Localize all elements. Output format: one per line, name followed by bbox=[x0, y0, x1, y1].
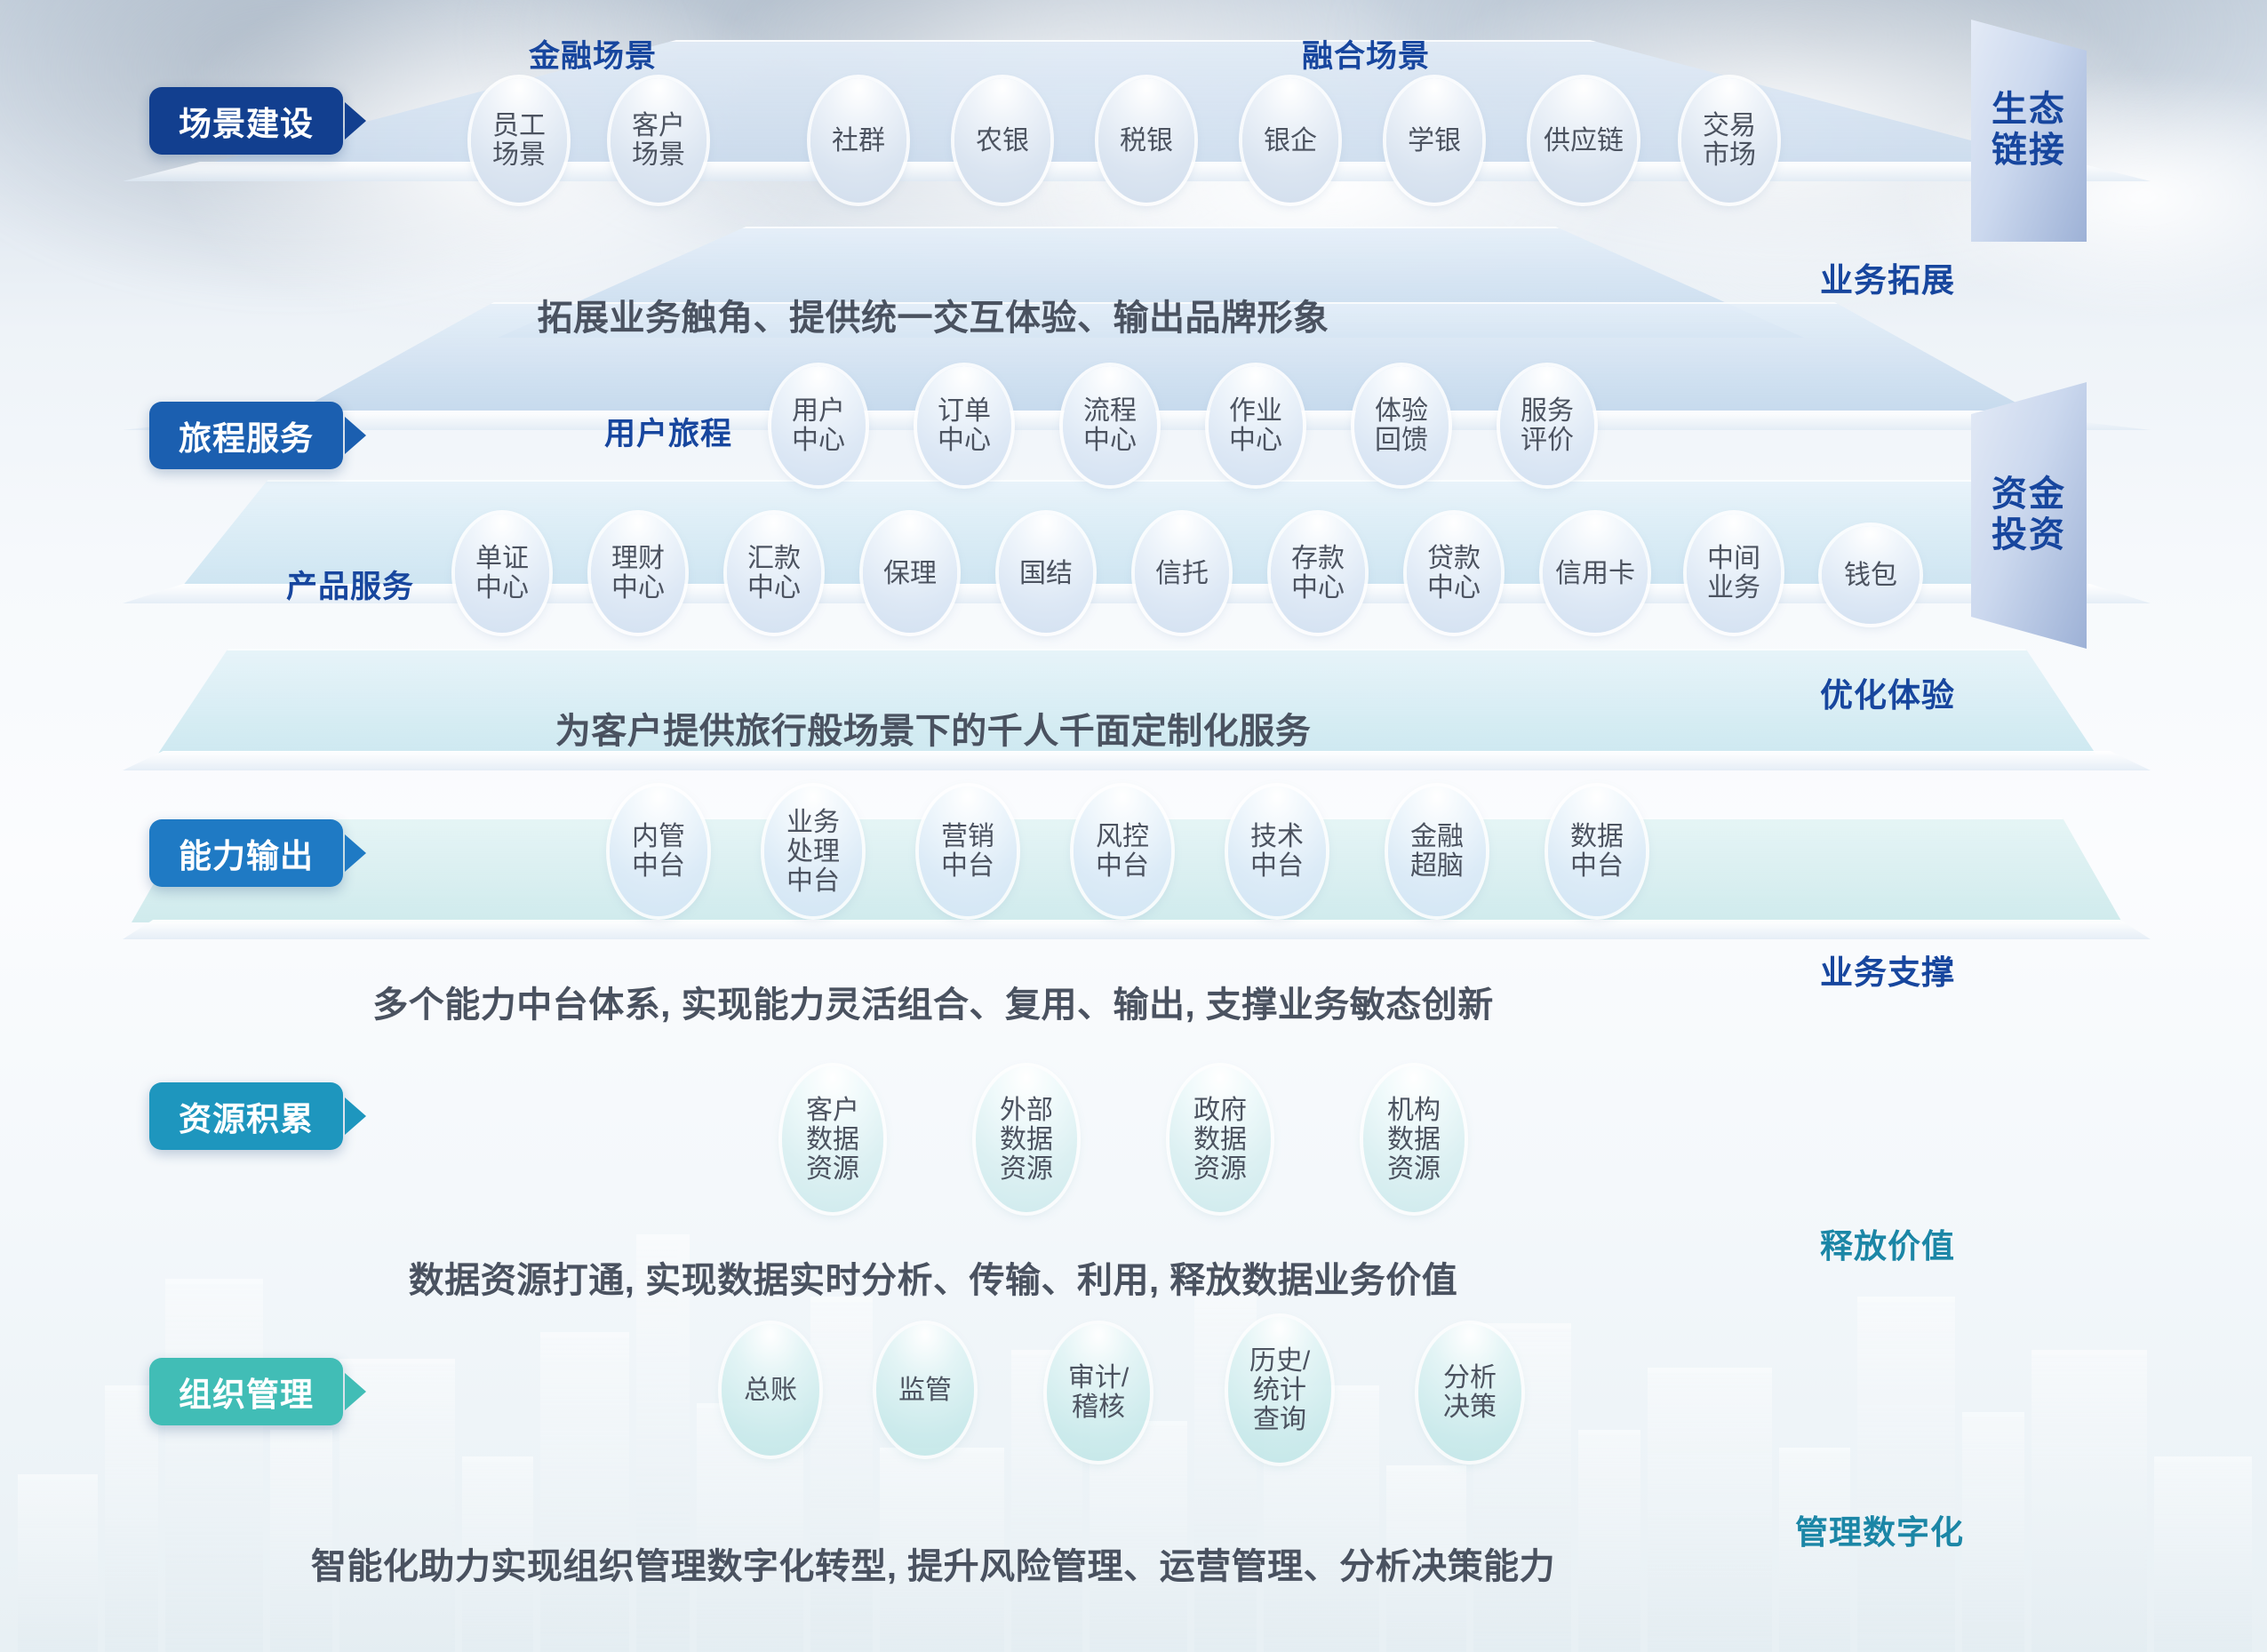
node-line: 银企 bbox=[1264, 126, 1317, 156]
node-line: 中心 bbox=[792, 426, 845, 455]
stage-label: 资源积累 bbox=[179, 1092, 314, 1140]
stage-label: 能力输出 bbox=[179, 829, 314, 877]
banner-ecosystem-link: 生态 链接 bbox=[1971, 20, 2087, 242]
stage-pill-scene-building[interactable]: 场景建设 bbox=[149, 87, 343, 155]
node-document-center[interactable]: 单证 中心 bbox=[455, 514, 549, 633]
node-line: 理财 bbox=[611, 544, 665, 573]
node-line: 国结 bbox=[1019, 559, 1073, 588]
pill-nib-icon bbox=[345, 417, 366, 454]
node-line: 分析 bbox=[1443, 1363, 1497, 1393]
group-label-fusion-scene: 融合场景 bbox=[1302, 31, 1430, 76]
node-operation-center[interactable]: 作业 中心 bbox=[1209, 366, 1303, 485]
node-line: 处理 bbox=[786, 837, 840, 866]
tier-description-2: 为客户提供旅行般场景下的千人千面定制化服务 bbox=[0, 702, 1866, 754]
node-loan-center[interactable]: 贷款 中心 bbox=[1407, 514, 1501, 633]
tier-ledge-5 bbox=[123, 920, 2151, 939]
node-government-data-resource[interactable]: 政府 数据 资源 bbox=[1169, 1066, 1271, 1212]
node-line: 信托 bbox=[1155, 559, 1209, 588]
node-line: 营销 bbox=[941, 822, 994, 851]
tier-ledge-4 bbox=[123, 751, 2151, 770]
stage-pill-journey-service[interactable]: 旅程服务 bbox=[149, 402, 343, 469]
stage-label: 旅程服务 bbox=[179, 411, 314, 459]
node-line: 资源 bbox=[806, 1154, 859, 1184]
node-line: 内管 bbox=[632, 822, 685, 851]
node-external-data-resource[interactable]: 外部 数据 资源 bbox=[976, 1066, 1077, 1212]
node-line: 机构 bbox=[1387, 1096, 1441, 1125]
node-line: 决策 bbox=[1443, 1393, 1497, 1422]
node-agri-bank[interactable]: 农银 bbox=[954, 78, 1050, 203]
node-intermediary-business[interactable]: 中间 业务 bbox=[1687, 514, 1781, 633]
node-line: 中台 bbox=[941, 851, 994, 881]
stage-label: 场景建设 bbox=[179, 97, 314, 145]
node-line: 场景 bbox=[632, 140, 685, 170]
node-line: 税银 bbox=[1120, 126, 1173, 156]
node-line: 汇款 bbox=[747, 544, 801, 573]
node-remittance-center[interactable]: 汇款 中心 bbox=[727, 514, 821, 633]
node-line: 客户 bbox=[806, 1096, 859, 1125]
node-line: 保理 bbox=[883, 559, 937, 588]
node-credit-card[interactable]: 信用卡 bbox=[1543, 514, 1648, 633]
node-line: 中心 bbox=[938, 426, 991, 455]
node-line: 资源 bbox=[1000, 1154, 1053, 1184]
node-wallet[interactable]: 钱包 bbox=[1822, 526, 1920, 624]
node-line: 订单 bbox=[938, 396, 991, 426]
node-wealth-center[interactable]: 理财 中心 bbox=[591, 514, 685, 633]
node-line: 单证 bbox=[475, 544, 529, 573]
pill-nib-icon bbox=[345, 1097, 366, 1135]
node-supply-chain[interactable]: 供应链 bbox=[1530, 78, 1637, 203]
node-line: 资源 bbox=[1387, 1154, 1441, 1184]
node-analysis-decision[interactable]: 分析 决策 bbox=[1418, 1324, 1521, 1461]
node-line: 市场 bbox=[1703, 140, 1756, 170]
node-tax-bank[interactable]: 税银 bbox=[1098, 78, 1194, 203]
node-customer-data-resource[interactable]: 客户 数据 资源 bbox=[782, 1066, 883, 1212]
node-institution-data-resource[interactable]: 机构 数据 资源 bbox=[1363, 1066, 1465, 1212]
node-line: 中台 bbox=[1570, 851, 1624, 881]
node-user-center[interactable]: 用户 中心 bbox=[771, 366, 866, 485]
node-line: 服务 bbox=[1521, 396, 1574, 426]
outcome-business-expansion: 业务拓展 bbox=[1820, 253, 1955, 301]
outcome-management-digitalization: 管理数字化 bbox=[1795, 1505, 1964, 1553]
group-label-product-service: 产品服务 bbox=[286, 562, 414, 607]
node-line: 流程 bbox=[1083, 396, 1137, 426]
node-line: 场景 bbox=[492, 140, 546, 170]
node-business-processing-platform[interactable]: 业务 处理 中台 bbox=[764, 786, 862, 916]
node-line: 稽核 bbox=[1072, 1393, 1125, 1422]
node-line: 政府 bbox=[1193, 1096, 1247, 1125]
node-line: 审计/ bbox=[1068, 1363, 1129, 1393]
node-line: 中心 bbox=[1083, 426, 1137, 455]
node-line: 学银 bbox=[1408, 126, 1461, 156]
outcome-business-support: 业务支撑 bbox=[1820, 946, 1955, 994]
node-line: 客户 bbox=[632, 111, 685, 140]
node-line: 中台 bbox=[1096, 851, 1149, 881]
node-line: 交易 bbox=[1703, 111, 1756, 140]
node-line: 监管 bbox=[898, 1376, 952, 1405]
stage-label: 组织管理 bbox=[179, 1368, 314, 1416]
node-process-center[interactable]: 流程 中心 bbox=[1063, 366, 1157, 485]
node-international-settlement[interactable]: 国结 bbox=[999, 514, 1093, 633]
node-line: 业务 bbox=[1707, 573, 1760, 603]
node-internal-management-platform[interactable]: 内管 中台 bbox=[610, 786, 707, 916]
node-line: 业务 bbox=[786, 808, 840, 837]
node-history-statistics-query[interactable]: 历史/ 统计 查询 bbox=[1228, 1317, 1331, 1463]
node-line: 金融 bbox=[1410, 822, 1464, 851]
node-risk-control-platform[interactable]: 风控 中台 bbox=[1074, 786, 1171, 916]
node-marketing-platform[interactable]: 营销 中台 bbox=[919, 786, 1017, 916]
node-line: 信用卡 bbox=[1555, 559, 1635, 588]
node-technology-platform[interactable]: 技术 中台 bbox=[1228, 786, 1326, 916]
banner-line: 生态 bbox=[1992, 90, 2066, 131]
node-line: 回馈 bbox=[1375, 426, 1428, 455]
node-line: 员工 bbox=[492, 111, 546, 140]
node-line: 中心 bbox=[1229, 426, 1282, 455]
node-line: 资源 bbox=[1193, 1154, 1247, 1184]
node-line: 数据 bbox=[806, 1125, 859, 1154]
banner-line: 链接 bbox=[1992, 131, 2066, 172]
node-line: 贷款 bbox=[1427, 544, 1481, 573]
pill-nib-icon bbox=[345, 834, 366, 872]
outcome-experience-optimization: 优化体验 bbox=[1820, 668, 1955, 716]
tier-description-1: 拓展业务触角、提供统一交互体验、输出品牌形象 bbox=[0, 289, 1866, 340]
node-line: 技术 bbox=[1250, 822, 1304, 851]
node-line: 中台 bbox=[786, 866, 840, 896]
node-line: 数据 bbox=[1193, 1125, 1247, 1154]
node-line: 统计 bbox=[1253, 1376, 1306, 1405]
node-line: 中心 bbox=[611, 573, 665, 603]
node-audit-inspection[interactable]: 审计/ 稽核 bbox=[1047, 1324, 1150, 1461]
node-financial-brain[interactable]: 金融 超脑 bbox=[1388, 786, 1486, 916]
node-line: 中心 bbox=[1427, 573, 1481, 603]
node-general-ledger[interactable]: 总账 bbox=[722, 1324, 819, 1456]
node-line: 超脑 bbox=[1410, 851, 1464, 881]
node-line: 存款 bbox=[1291, 544, 1345, 573]
tier-description-4: 数据资源打通, 实现数据实时分析、传输、利用, 释放数据业务价值 bbox=[0, 1251, 1866, 1303]
node-line: 评价 bbox=[1521, 426, 1574, 455]
stage-pill-organization-management[interactable]: 组织管理 bbox=[149, 1358, 343, 1425]
node-experience-feedback[interactable]: 体验 回馈 bbox=[1354, 366, 1449, 485]
node-line: 社群 bbox=[832, 126, 885, 156]
node-line: 农银 bbox=[976, 126, 1029, 156]
pill-nib-icon bbox=[345, 1373, 366, 1410]
node-trading-market[interactable]: 交易 市场 bbox=[1681, 78, 1777, 203]
node-line: 历史/ bbox=[1249, 1346, 1310, 1376]
node-line: 中台 bbox=[1250, 851, 1304, 881]
node-line: 供应链 bbox=[1544, 126, 1624, 156]
node-line: 数据 bbox=[1000, 1125, 1053, 1154]
node-order-center[interactable]: 订单 中心 bbox=[917, 366, 1011, 485]
node-school-bank[interactable]: 学银 bbox=[1386, 78, 1482, 203]
group-label-user-journey: 用户旅程 bbox=[604, 409, 732, 454]
node-line: 外部 bbox=[1000, 1096, 1053, 1125]
node-bank-enterprise[interactable]: 银企 bbox=[1242, 78, 1338, 203]
node-line: 中心 bbox=[747, 573, 801, 603]
outcome-value-release: 释放价值 bbox=[1820, 1219, 1955, 1267]
node-line: 钱包 bbox=[1844, 561, 1897, 590]
pill-nib-icon bbox=[345, 102, 366, 140]
node-deposit-center[interactable]: 存款 中心 bbox=[1271, 514, 1365, 633]
banner-capital-investment-text: 资金 投资 bbox=[1971, 382, 2087, 649]
node-line: 风控 bbox=[1096, 822, 1149, 851]
banner-line: 投资 bbox=[1992, 515, 2066, 556]
node-line: 体验 bbox=[1375, 396, 1428, 426]
node-customer-scene[interactable]: 客户 场景 bbox=[611, 78, 706, 203]
node-line: 数据 bbox=[1387, 1125, 1441, 1154]
node-line: 中台 bbox=[632, 851, 685, 881]
node-data-platform[interactable]: 数据 中台 bbox=[1548, 786, 1646, 916]
banner-capital-investment: 资金 投资 bbox=[1971, 382, 2087, 649]
node-line: 数据 bbox=[1570, 822, 1624, 851]
node-line: 中心 bbox=[1291, 573, 1345, 603]
node-line: 查询 bbox=[1253, 1405, 1306, 1434]
node-line: 作业 bbox=[1229, 396, 1282, 426]
banner-line: 资金 bbox=[1992, 475, 2066, 515]
tier-description-5: 智能化助力实现组织管理数字化转型, 提升风险管理、运营管理、分析决策能力 bbox=[0, 1537, 1866, 1589]
node-line: 用户 bbox=[792, 396, 845, 426]
node-supervision[interactable]: 监管 bbox=[876, 1324, 974, 1456]
banner-ecosystem-link-text: 生态 链接 bbox=[1971, 20, 2087, 242]
node-factoring[interactable]: 保理 bbox=[863, 514, 957, 633]
stage-pill-resource-accumulation[interactable]: 资源积累 bbox=[149, 1082, 343, 1150]
node-community[interactable]: 社群 bbox=[810, 78, 906, 203]
node-employee-scene[interactable]: 员工 场景 bbox=[471, 78, 567, 203]
group-label-financial-scene: 金融场景 bbox=[529, 31, 657, 76]
stage-pill-capability-output[interactable]: 能力输出 bbox=[149, 819, 343, 887]
tier-description-3: 多个能力中台体系, 实现能力灵活组合、复用、输出, 支撑业务敏态创新 bbox=[0, 976, 1866, 1027]
node-service-evaluation[interactable]: 服务 评价 bbox=[1500, 366, 1594, 485]
node-trust[interactable]: 信托 bbox=[1135, 514, 1229, 633]
node-line: 中心 bbox=[475, 573, 529, 603]
node-line: 中间 bbox=[1707, 544, 1760, 573]
node-line: 总账 bbox=[744, 1376, 797, 1405]
